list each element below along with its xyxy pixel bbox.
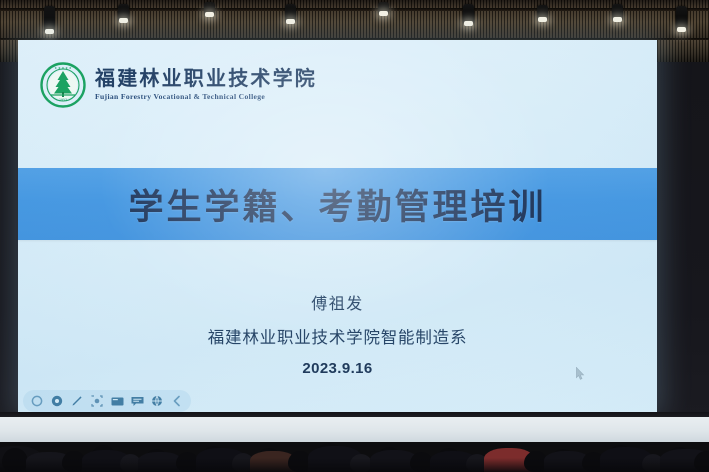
pointer-icon[interactable]: [30, 394, 44, 408]
ceiling-spotlight: [118, 4, 129, 21]
presenter-name: 傅祖发: [18, 290, 657, 314]
presentation-toolbar[interactable]: [23, 390, 191, 412]
ceiling-spotlight: [612, 4, 623, 20]
slide-title: 学生学籍、考勤管理培训: [128, 179, 546, 230]
audience-foreground-shadow: [0, 458, 709, 472]
ceiling-spotlight: [378, 2, 389, 14]
globe-icon[interactable]: [150, 394, 164, 408]
slide-title-band: 学生学籍、考勤管理培训: [18, 168, 657, 240]
presenter-organization: 福建林业职业技术学院智能制造系: [18, 324, 657, 348]
mouse-pointer: [576, 367, 585, 380]
ceiling-spotlight: [537, 5, 548, 20]
ceiling-spotlight: [463, 4, 474, 24]
lecture-hall-scene: ★ ★ ★ ★ ★ 1953 福建林业职业技术学院 Fujian Forestr…: [0, 0, 709, 472]
pen-icon[interactable]: [70, 394, 84, 408]
projection-screen: ★ ★ ★ ★ ★ 1953 福建林业职业技术学院 Fujian Forestr…: [18, 40, 657, 412]
record-icon[interactable]: [50, 394, 64, 408]
ceiling-spotlight: [285, 4, 296, 22]
ceiling-spotlight: [204, 2, 215, 15]
ceiling-rail-upper: [0, 8, 709, 11]
notes-icon[interactable]: [130, 394, 144, 408]
college-seal-tree-icon: ★ ★ ★ ★ ★ 1953: [40, 62, 86, 108]
audience: [0, 424, 709, 472]
ceiling-spotlight: [44, 6, 55, 32]
spotlight-icon[interactable]: [90, 394, 104, 408]
college-name-cn: 福建林业职业技术学院: [95, 69, 317, 90]
ceiling-spotlight: [676, 6, 687, 30]
presentation-date: 2023.9.16: [18, 360, 657, 377]
presenter-block: 傅祖发 福建林业职业技术学院智能制造系 2023.9.16: [18, 290, 657, 377]
collapse-chevron-left-icon[interactable]: [170, 394, 184, 408]
svg-text:1953: 1953: [59, 98, 67, 102]
svg-text:★ ★ ★ ★ ★: ★ ★ ★ ★ ★: [54, 66, 72, 70]
college-name-en: Fujian Forestry Vocational & Technical C…: [95, 92, 317, 101]
slide-logo-header: ★ ★ ★ ★ ★ 1953 福建林业职业技术学院 Fujian Forestr…: [40, 62, 317, 108]
screen-icon[interactable]: [110, 394, 124, 408]
ceiling: [0, 0, 709, 40]
